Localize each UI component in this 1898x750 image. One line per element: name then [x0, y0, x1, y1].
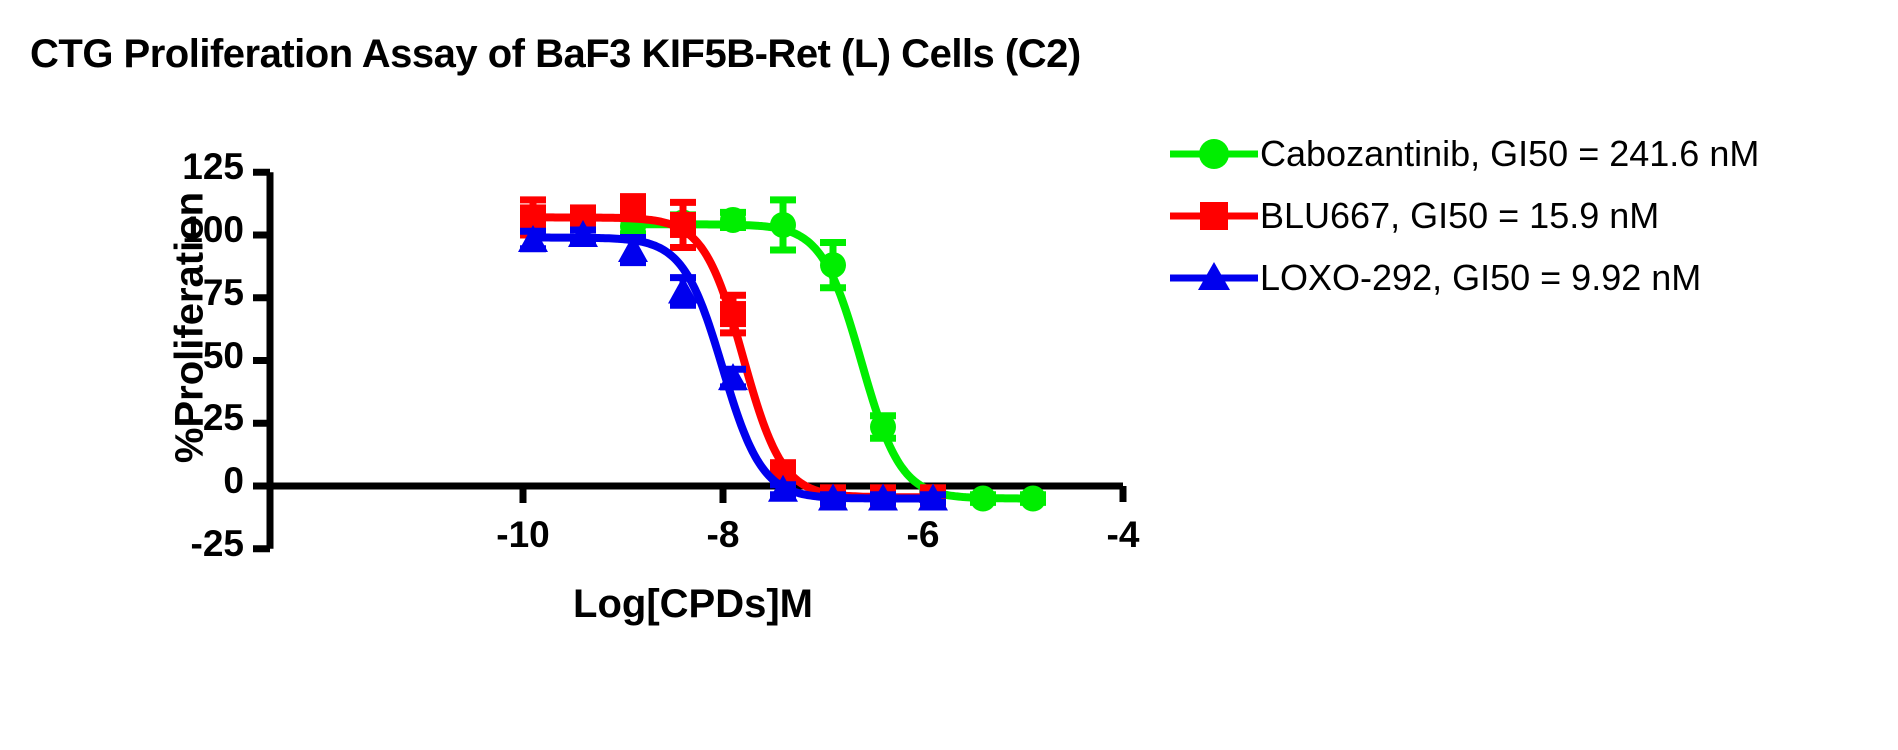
legend-marker-circle-icon [1168, 134, 1260, 174]
x-tick-label--6: -6 [863, 514, 983, 556]
datapoint-blu667-4 [720, 301, 746, 327]
datapoint-cabozantinib-8 [1020, 486, 1046, 512]
curve-blu667 [533, 217, 933, 497]
legend-item-loxo292[interactable]: LOXO-292, GI50 = 9.92 nM [1168, 254, 1759, 302]
x-tick-label--4: -4 [1063, 514, 1183, 556]
plot-canvas [0, 0, 1898, 750]
datapoint-cabozantinib-5 [870, 414, 896, 440]
plot-area [0, 0, 1898, 750]
legend-marker-triangle-icon [1168, 258, 1260, 298]
datapoint-cabozantinib-2 [720, 207, 746, 233]
legend: Cabozantinib, GI50 = 241.6 nM BLU667, GI… [1168, 130, 1759, 302]
y-tick-label-50: 50 [203, 335, 244, 377]
y-tick-label-125: 125 [182, 146, 244, 188]
y-tick-label-75: 75 [203, 272, 244, 314]
legend-item-cabozantinib[interactable]: Cabozantinib, GI50 = 241.6 nM [1168, 130, 1759, 178]
datapoint-cabozantinib-7 [970, 486, 996, 512]
x-tick-label--8: -8 [663, 514, 783, 556]
legend-label-cabozantinib: Cabozantinib, GI50 = 241.6 nM [1260, 133, 1759, 175]
datapoint-cabozantinib-4 [820, 252, 846, 278]
legend-marker-square-icon [1168, 196, 1260, 236]
chart-figure: CTG Proliferation Assay of BaF3 KIF5B-Re… [0, 0, 1898, 750]
datapoint-blu667-3 [670, 212, 696, 238]
datapoint-blu667-2 [620, 193, 646, 219]
x-axis-title: Log[CPDs]M [463, 582, 923, 627]
y-tick-label-25: 25 [203, 397, 244, 439]
y-tick-label-100: 100 [182, 209, 244, 251]
x-tick-label--10: -10 [463, 514, 583, 556]
y-tick-label-0: 0 [223, 460, 244, 502]
legend-label-loxo292: LOXO-292, GI50 = 9.92 nM [1260, 257, 1701, 299]
legend-item-blu667[interactable]: BLU667, GI50 = 15.9 nM [1168, 192, 1759, 240]
datapoint-cabozantinib-3 [770, 212, 796, 238]
y-tick-label--25: -25 [191, 523, 244, 565]
legend-label-blu667: BLU667, GI50 = 15.9 nM [1260, 195, 1659, 237]
